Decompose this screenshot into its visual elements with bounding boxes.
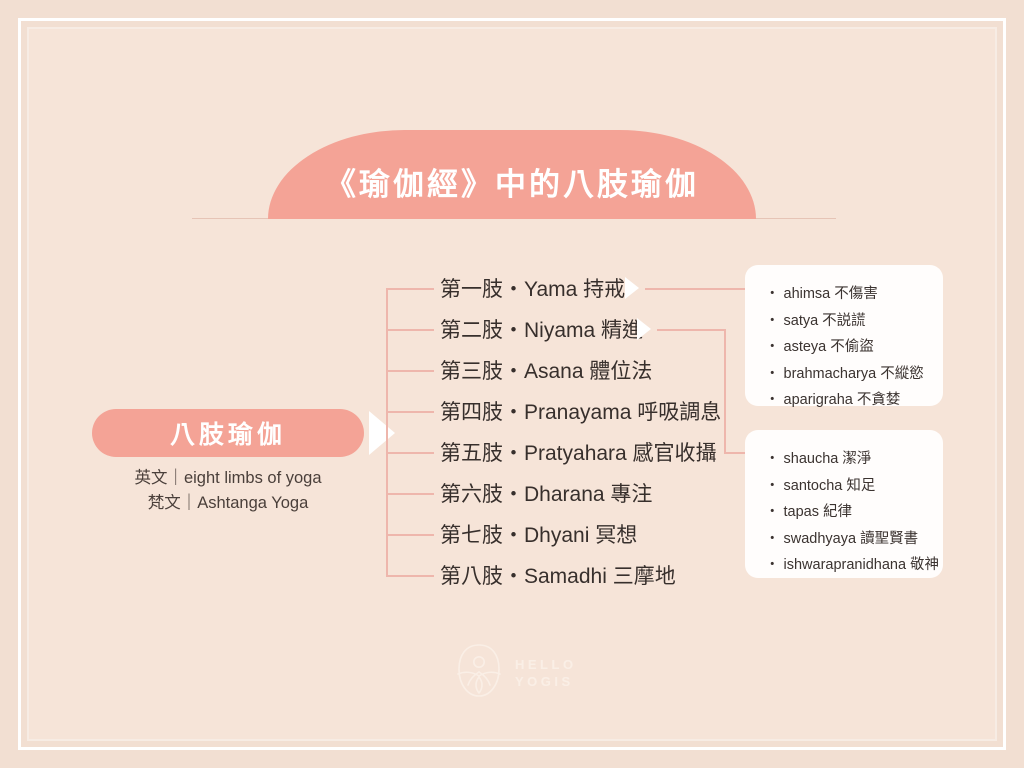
bracket-stub-4 (386, 411, 434, 413)
limb-item-6: 第六肢・Dharana 專注 (440, 484, 652, 505)
connector-limb1-to-card1 (645, 288, 755, 290)
limb-item-4: 第四肢・Pranayama 呼吸調息 (440, 402, 721, 423)
title-banner: 《瑜伽經》中的八肢瑜伽 (268, 130, 756, 219)
card-list-item: ・ahimsa 不傷害 (765, 281, 925, 308)
root-node-subtitle: 英文｜eight limbs of yoga 梵文｜Ashtanga Yoga (92, 466, 364, 516)
root-subtitle-sanskrit: 梵文｜Ashtanga Yoga (92, 491, 364, 516)
bracket-stub-3 (386, 370, 434, 372)
card-list-item: ・ishwarapranidhana 敬神 (765, 552, 925, 579)
card-item-text: tapas 紀律 (784, 504, 853, 520)
connector-limb2-seg-h1 (657, 329, 725, 331)
card-list-item: ・swadhyaya 讀聖賢書 (765, 526, 925, 553)
card-item-text: swadhyaya 讀聖賢書 (784, 531, 919, 547)
bullet-icon: ・ (765, 313, 780, 329)
root-arrow-icon (369, 411, 395, 455)
card-item-text: shaucha 潔淨 (784, 451, 872, 467)
bullet-icon: ・ (765, 478, 780, 494)
root-subtitle-english: 英文｜eight limbs of yoga (92, 466, 364, 491)
root-node-pill: 八肢瑜伽 (92, 409, 364, 457)
connector-limb2-seg-v (724, 329, 726, 453)
bracket-spine (386, 288, 388, 575)
card-list-item: ・aparigraha 不貪婪 (765, 387, 925, 414)
bullet-icon: ・ (765, 339, 780, 355)
card-item-text: aparigraha 不貪婪 (784, 392, 901, 408)
card-item-text: santocha 知足 (784, 478, 876, 494)
footer-logo-line1: HELLO (515, 656, 577, 673)
card-list-item: ・shaucha 潔淨 (765, 446, 925, 473)
bracket-stub-7 (386, 534, 434, 536)
bullet-icon: ・ (765, 451, 780, 467)
card-item-text: asteya 不偷盜 (784, 339, 874, 355)
card-item-text: brahmacharya 不縱慾 (784, 366, 924, 382)
yama-card: ・ahimsa 不傷害 ・satya 不説謊 ・asteya 不偷盜 ・brah… (745, 265, 943, 406)
limb-item-7: 第七肢・Dhyani 冥想 (440, 525, 637, 546)
infographic-canvas: 《瑜伽經》中的八肢瑜伽 八肢瑜伽 英文｜eight limbs of yoga … (0, 0, 1024, 768)
limb-item-1: 第一肢・Yama 持戒 (440, 279, 625, 300)
card-list-item: ・santocha 知足 (765, 473, 925, 500)
bullet-icon: ・ (765, 557, 780, 573)
bracket-stub-8 (386, 575, 434, 577)
card-list-item: ・brahmacharya 不縱慾 (765, 361, 925, 388)
limb-item-2: 第二肢・Niyama 精進 (440, 320, 643, 341)
limb-item-8: 第八肢・Samadhi 三摩地 (440, 566, 676, 587)
bracket-stub-1 (386, 288, 434, 290)
bullet-icon: ・ (765, 366, 780, 382)
page-title: 《瑜伽經》中的八肢瑜伽 (325, 145, 699, 204)
card-list-item: ・tapas 紀律 (765, 499, 925, 526)
bracket-stub-5 (386, 452, 434, 454)
limb-item-5: 第五肢・Pratyahara 感官收攝 (440, 443, 717, 464)
niyama-card: ・shaucha 潔淨 ・santocha 知足 ・tapas 紀律 ・swad… (745, 430, 943, 578)
footer-logo: HELLO YOGIS (452, 642, 582, 704)
card-item-text: ahimsa 不傷害 (784, 286, 878, 302)
footer-logo-line2: YOGIS (515, 673, 577, 690)
card-item-text: satya 不説謊 (784, 313, 866, 329)
limb-2-arrow-icon (637, 318, 651, 340)
bracket-stub-6 (386, 493, 434, 495)
card-list-item: ・satya 不説謊 (765, 308, 925, 335)
footer-logo-wordmark: HELLO YOGIS (515, 656, 577, 690)
bullet-icon: ・ (765, 531, 780, 547)
limb-item-3: 第三肢・Asana 體位法 (440, 361, 652, 382)
root-node-label: 八肢瑜伽 (170, 415, 286, 451)
bullet-icon: ・ (765, 286, 780, 302)
limb-1-arrow-icon (625, 277, 639, 299)
bullet-icon: ・ (765, 504, 780, 520)
lotus-meditation-icon (452, 641, 506, 706)
bracket-stub-2 (386, 329, 434, 331)
card-list-item: ・asteya 不偷盜 (765, 334, 925, 361)
card-item-text: ishwarapranidhana 敬神 (784, 557, 940, 573)
bullet-icon: ・ (765, 392, 780, 408)
